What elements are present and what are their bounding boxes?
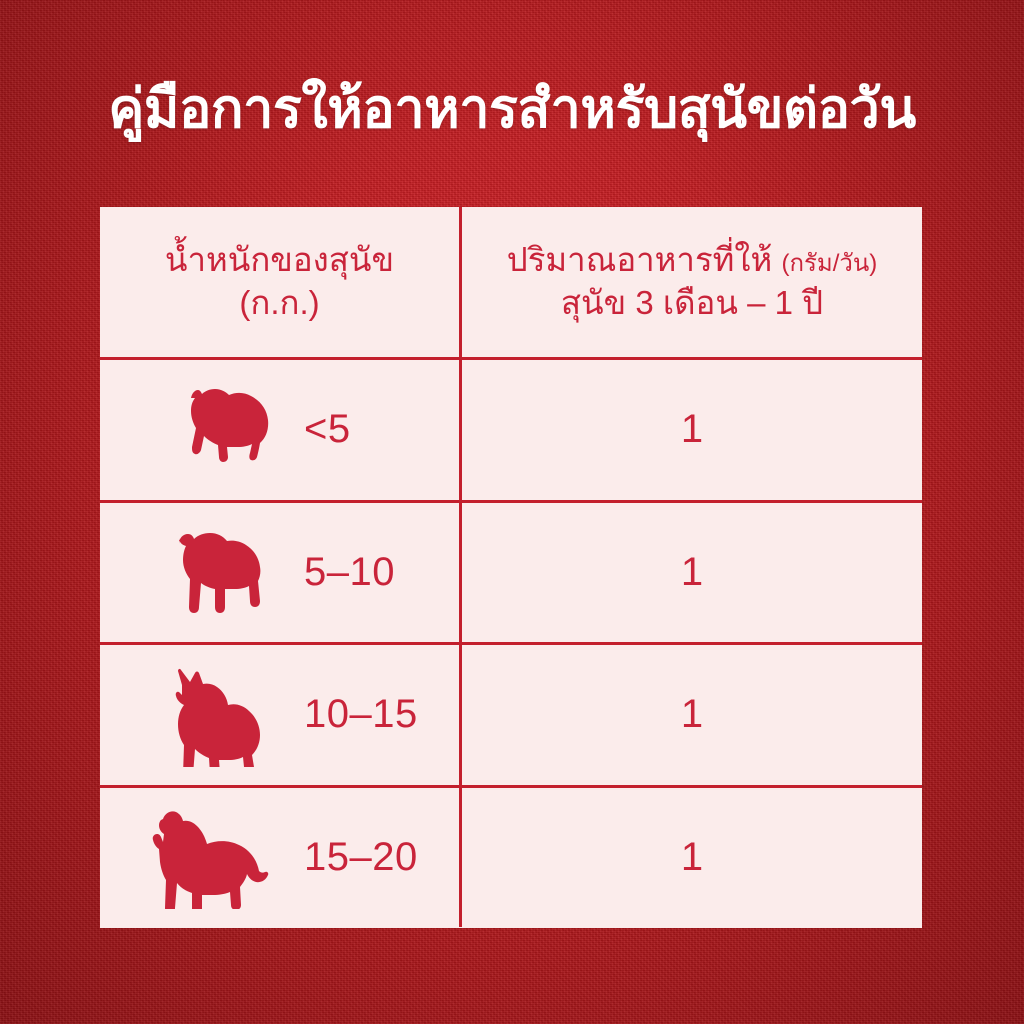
header-amount-text: ปริมาณอาหารที่ให้ (กรัม/วัน) สุนัข 3 เดื… <box>507 239 878 325</box>
header-weight-line2: (ก.ก.) <box>165 282 394 325</box>
row-amount-label: 1 <box>681 692 703 737</box>
row-weight-cell: 10–15 <box>100 645 462 785</box>
row-amount-cell: 1 <box>462 503 922 643</box>
row-weight-label: 5–10 <box>304 550 395 595</box>
header-amount-unit: (กรัม/วัน) <box>781 250 877 277</box>
table-row: 15–20 1 <box>100 785 922 928</box>
header-weight-text: น้ำหนักของสุนัข (ก.ก.) <box>165 239 394 325</box>
table-row: <5 1 <box>100 357 922 500</box>
row-amount-cell: 1 <box>462 360 922 500</box>
row-amount-label: 1 <box>681 550 703 595</box>
header-amount-main: ปริมาณอาหารที่ให้ <box>507 241 782 278</box>
feeding-guide-table: น้ำหนักของสุนัข (ก.ก.) ปริมาณอาหารที่ให้… <box>100 207 922 928</box>
hound-dog-icon <box>142 798 292 916</box>
pomeranian-dog-icon <box>142 371 292 489</box>
row-weight-label: 15–20 <box>304 835 418 880</box>
shiba-dog-icon <box>142 656 292 774</box>
page-root: คู่มือการให้อาหารสำหรับสุนัขต่อวัน น้ำหน… <box>0 0 1024 1024</box>
pug-dog-icon <box>142 513 292 631</box>
row-weight-label: 10–15 <box>304 692 418 737</box>
row-weight-label: <5 <box>304 407 351 452</box>
row-amount-cell: 1 <box>462 645 922 785</box>
header-amount-line2: สุนัข 3 เดือน – 1 ปี <box>507 282 878 325</box>
row-amount-cell: 1 <box>462 788 922 928</box>
table-header-row: น้ำหนักของสุนัข (ก.ก.) ปริมาณอาหารที่ให้… <box>100 207 922 357</box>
row-amount-label: 1 <box>681 407 703 452</box>
row-weight-cell: <5 <box>100 360 462 500</box>
header-amount-line1: ปริมาณอาหารที่ให้ (กรัม/วัน) <box>507 239 878 282</box>
table-row: 5–10 1 <box>100 500 922 643</box>
table-row: 10–15 1 <box>100 642 922 785</box>
header-weight-line1: น้ำหนักของสุนัข <box>165 239 394 282</box>
header-cell-amount: ปริมาณอาหารที่ให้ (กรัม/วัน) สุนัข 3 เดื… <box>462 207 922 357</box>
page-title: คู่มือการให้อาหารสำหรับสุนัขต่อวัน <box>0 78 1024 142</box>
header-cell-weight: น้ำหนักของสุนัข (ก.ก.) <box>100 207 462 357</box>
row-weight-cell: 5–10 <box>100 503 462 643</box>
row-weight-cell: 15–20 <box>100 788 462 928</box>
row-amount-label: 1 <box>681 835 703 880</box>
